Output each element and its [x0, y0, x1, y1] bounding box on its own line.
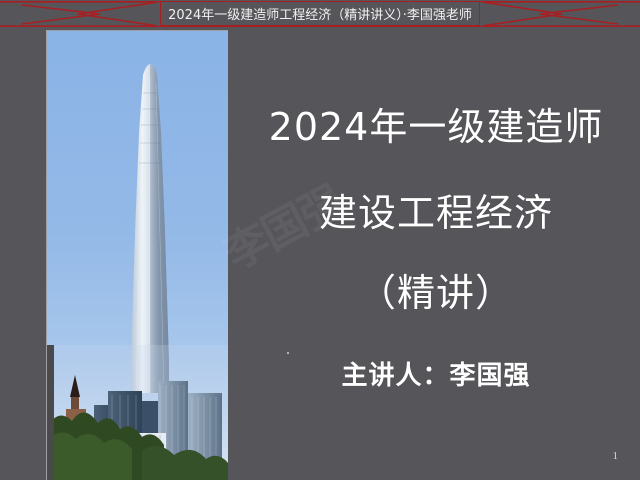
skyscraper-cityscape-photo: [46, 30, 228, 480]
title-line-3: （精讲）: [240, 262, 632, 317]
chevron-arrow-left-icon: [0, 0, 160, 28]
skyscraper-tower-shape: [130, 63, 170, 393]
banner-title-box: 2024年一级建造师工程经济（精讲讲义）·李国强老师: [160, 1, 480, 26]
slide-title-block: 2024年一级建造师 建设工程经济 （精讲） 主讲人：李国强: [240, 30, 632, 470]
slide-header-banner: 2024年一级建造师工程经济（精讲讲义）·李国强老师: [0, 0, 640, 28]
title-line-2: 建设工程经济: [240, 182, 632, 237]
foreground-cityscape: [46, 345, 228, 480]
title-line-1: 2024年一级建造师: [240, 96, 632, 151]
presentation-slide: 2024年一级建造师工程经济（精讲讲义）·李国强老师: [0, 0, 640, 480]
page-number: 1: [613, 450, 619, 462]
bullet-dot-icon: [287, 352, 289, 354]
presenter-line: 主讲人：李国强: [240, 355, 632, 392]
chevron-arrow-right-icon: [480, 0, 640, 28]
banner-title-text: 2024年一级建造师工程经济（精讲讲义）·李国强老师: [168, 4, 472, 23]
